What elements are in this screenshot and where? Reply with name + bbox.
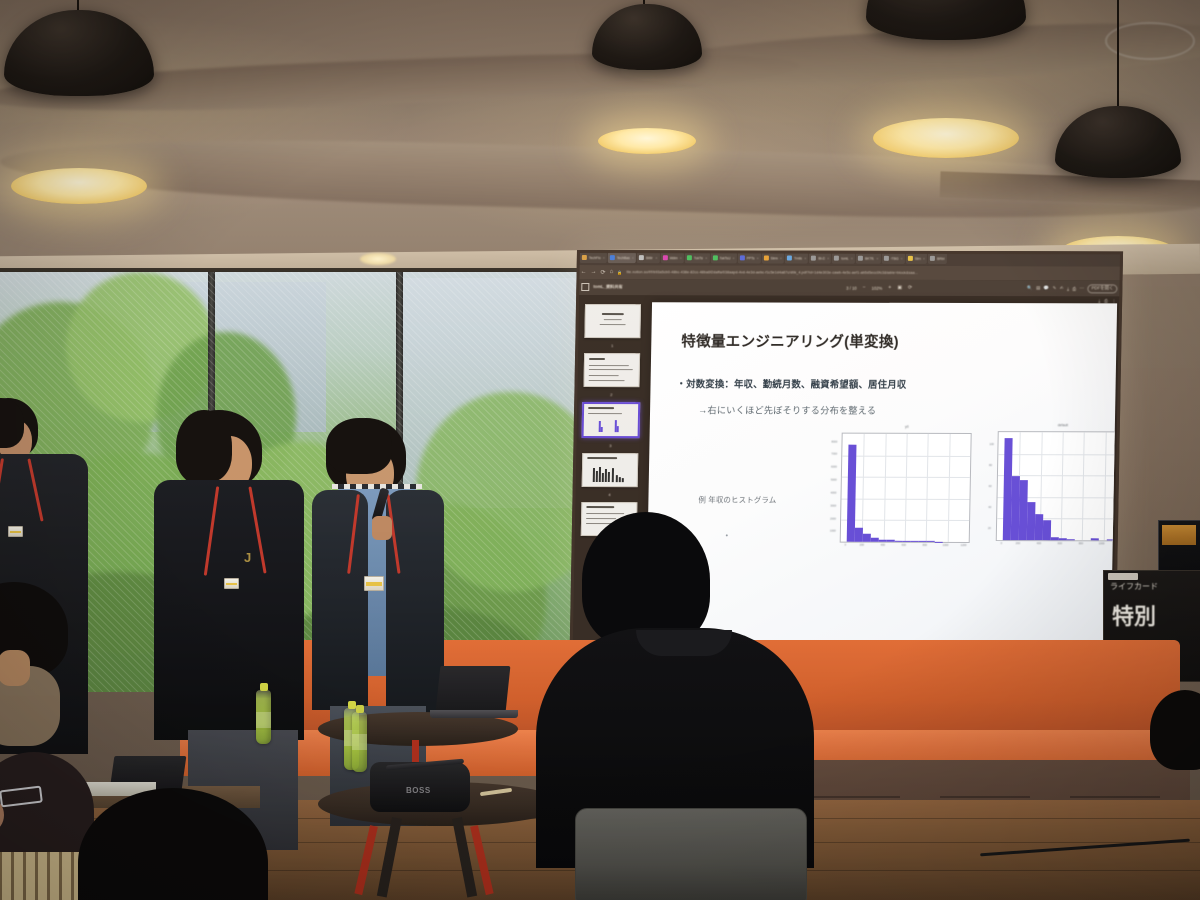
recessed-downlight: [360, 253, 396, 265]
laptop-base: [430, 710, 518, 718]
x-tick: 0: [845, 544, 847, 547]
tab-close-icon[interactable]: ×: [603, 256, 605, 260]
histogram-chart-2: default 10: [996, 431, 1117, 541]
tab-close-icon[interactable]: ×: [655, 256, 657, 260]
histogram-bar: [1107, 539, 1115, 540]
tab-label: Strn: [915, 256, 921, 260]
tab-label: TechBas: [617, 256, 630, 260]
pdf-thumbnail-4[interactable]: [582, 453, 639, 487]
browser-address-bar[interactable]: ← → ⟳ ⌂ 🔒 file.notion.so/f/f/b93a5cb0-48…: [576, 265, 1123, 280]
histogram-bar: [855, 528, 863, 542]
slide-dot-marker: [726, 534, 728, 536]
browser-tab[interactable]: Strm ×: [762, 252, 784, 263]
histogram-bar: [863, 534, 871, 542]
page-indicator: 3 / 10: [846, 285, 857, 290]
tab-close-icon[interactable]: ×: [680, 256, 682, 260]
pendant-lamp: [0, 0, 154, 96]
hand: [0, 650, 30, 686]
tab-favicon: [930, 256, 935, 261]
y-tick: 4000: [831, 492, 837, 495]
jacket: [386, 490, 444, 716]
tab-close-icon[interactable]: ×: [757, 256, 759, 260]
y-tick: 40: [988, 506, 991, 509]
tab-favicon: [639, 255, 644, 260]
bottle-label: [256, 712, 271, 728]
y-tick: 6000: [831, 466, 837, 469]
histogram-bar: [903, 541, 911, 542]
x-tick: 1200: [961, 544, 967, 547]
comment-icon[interactable]: 💬: [1044, 285, 1050, 291]
more-icon[interactable]: ⋯: [1079, 285, 1084, 291]
bottle-label: [352, 734, 367, 750]
monitor-screen-glow: [1162, 525, 1196, 545]
y-tick: 5000: [831, 479, 837, 482]
highlight-icon[interactable]: ✎: [1053, 285, 1057, 291]
histogram-2-title: default: [1058, 423, 1068, 427]
thumbnail-number: 4: [608, 492, 610, 497]
tab-close-icon[interactable]: ×: [780, 256, 782, 260]
tab-favicon: [610, 255, 615, 260]
y-tick: 7000: [831, 453, 837, 456]
histogram-chart-1: y0: [840, 433, 972, 543]
histogram-bar: [919, 541, 927, 542]
x-tick: 200: [1016, 542, 1020, 545]
thumbnail-number: 2: [610, 392, 612, 397]
histogram-bar: [887, 540, 895, 542]
y-tick: 1000: [830, 530, 836, 533]
x-tick: 1000: [943, 544, 949, 547]
tab-favicon: [712, 255, 717, 260]
pdf-slide-page: 特徴量エンジニアリング(単変換) ・対数変換：年収、勤続月数、融資希望額、居住月…: [646, 302, 1117, 651]
tab-label: Bt-D: [818, 256, 825, 260]
download-icon[interactable]: ⤓: [1067, 286, 1069, 291]
bag-logo: BOSS: [406, 786, 431, 795]
print-icon[interactable]: ⎙: [1072, 286, 1076, 291]
green-tea-bottle: [352, 712, 367, 772]
tab-label: tomL: [841, 256, 849, 260]
pdf-thumbnail-2[interactable]: [583, 353, 640, 387]
tab-favicon: [908, 256, 913, 261]
y-tick: 8000: [831, 441, 837, 444]
pdf-thumbnail-1[interactable]: [584, 304, 641, 338]
thumbnail-number: 3: [609, 443, 611, 448]
x-tick: 800: [1079, 542, 1083, 545]
jacket-logo: J: [244, 550, 251, 565]
tab-close-icon[interactable]: ×: [876, 256, 878, 260]
tab-close-icon[interactable]: ×: [705, 256, 707, 260]
banner-line-2: 特別: [1112, 599, 1156, 631]
name-badge: [364, 576, 384, 591]
browser-tab-bar[interactable]: TechFlo × TechBas × Bitlin × Mdim × TokT…: [577, 250, 1123, 266]
tab-label: TokTsU: [719, 256, 730, 260]
hair: [176, 410, 232, 482]
tab-favicon: [787, 256, 792, 261]
browser-tab[interactable]: Tmtls ×: [785, 253, 809, 264]
back-arrow-icon[interactable]: ←: [581, 269, 587, 275]
bottle-cap: [260, 683, 268, 691]
x-tick: 200: [860, 544, 864, 547]
search-icon[interactable]: 🔍: [1027, 285, 1033, 291]
x-tick: 600: [902, 544, 906, 547]
rotate-icon[interactable]: ⟳: [908, 285, 912, 291]
url-text[interactable]: file.notion.so/f/f/b93a5cb0-48bc-438e-82…: [626, 270, 1123, 275]
histogram-bar: [1067, 539, 1075, 540]
lock-icon: 🔒: [617, 270, 622, 275]
tab-favicon: [834, 256, 839, 261]
pendant-lamp: [866, 0, 1026, 40]
zoom-in-button[interactable]: +: [888, 285, 891, 291]
laptop-screen: [436, 666, 511, 712]
browser-tab[interactable]: Mdim ×: [660, 252, 684, 263]
tab-label: Bitlin: [646, 256, 653, 260]
tab-close-icon[interactable]: ×: [732, 256, 734, 260]
jacket: [312, 490, 368, 710]
tab-label: BRbI: [937, 256, 945, 260]
y-tick: 20: [988, 527, 991, 530]
tab-label: TokTsi: [694, 256, 703, 260]
tab-favicon: [582, 255, 587, 260]
tab-close-icon[interactable]: ×: [923, 256, 925, 260]
banner-line-1: ライフカード: [1110, 581, 1158, 592]
tab-label: Tmtls: [794, 256, 802, 260]
browser-tab[interactable]: TokTsi ×: [685, 252, 710, 263]
slide-title: 特徴量エンジニアリング(単変換): [681, 330, 899, 352]
histogram-bar: [911, 541, 919, 542]
zoom-out-button[interactable]: −: [863, 285, 866, 291]
browser-tab[interactable]: BRbI: [928, 253, 947, 264]
thumbnail-number: 1: [611, 343, 613, 348]
pdf-toolbar[interactable]: tomL_資料共有 3 / 10 − 102% + ▣ ⟳ 🔍 ▤ 💬 ✎ ✍ …: [576, 279, 1122, 296]
tab-favicon: [858, 256, 863, 261]
x-tick: 1000: [1099, 542, 1105, 545]
tab-favicon: [740, 255, 745, 260]
browser-tab[interactable]: Bitlin ×: [637, 252, 660, 263]
tab-favicon: [811, 256, 816, 261]
x-tick: 800: [923, 544, 927, 547]
histogram-bar: [1091, 539, 1099, 541]
open-pdf-button[interactable]: PDFを開く: [1087, 284, 1117, 293]
hand-holding-mic: [372, 516, 392, 540]
histogram-bar: [1051, 537, 1059, 540]
browser-tab-active[interactable]: TechBas ×: [608, 252, 636, 263]
histogram-bar: [895, 541, 903, 542]
tab-favicon: [687, 255, 692, 260]
histogram-bar: [879, 539, 887, 541]
tab-close-icon[interactable]: ×: [901, 256, 903, 260]
hair: [326, 418, 392, 474]
tab-close-icon[interactable]: ×: [804, 256, 806, 260]
pen-icon[interactable]: ✍: [1060, 285, 1064, 291]
pendant-lamp: [1055, 106, 1181, 178]
y-tick: 100: [989, 443, 993, 446]
name-badge: [8, 526, 23, 537]
reload-icon[interactable]: ⟳: [601, 269, 606, 276]
torso: [154, 480, 304, 740]
pdf-thumbnail-3-selected[interactable]: [582, 402, 641, 438]
jacket-collar-stripe: [332, 484, 422, 489]
browser-tab[interactable]: tomL ×: [832, 253, 855, 264]
presentation-room-photo: TechFlo × TechBas × Bitlin × Mdim × TokT…: [0, 0, 1200, 900]
tab-label: BKTfL: [865, 256, 875, 260]
tab-label: Strm: [771, 256, 778, 260]
sponsor-chip: [1108, 573, 1138, 580]
histogram-bar: [927, 541, 935, 542]
collar: [636, 630, 732, 656]
slide-bullet-2: →右にいくほど先ぼそりする分布を整える: [698, 402, 876, 416]
tab-favicon: [883, 256, 888, 261]
browser-tab[interactable]: TokTsU ×: [710, 252, 736, 263]
x-tick: 0: [1001, 542, 1003, 545]
green-tea-bottle: [256, 690, 271, 744]
zoom-level: 102%: [872, 285, 883, 290]
tab-label: rTBG: [890, 256, 898, 260]
tab-close-icon[interactable]: ×: [632, 256, 634, 260]
slide-example-label: 例 年収のヒストグラム: [698, 494, 776, 505]
y-tick: 60: [989, 485, 992, 488]
pendant-lamp: [592, 0, 702, 70]
histogram-bar: [935, 541, 943, 542]
audience-chair: [575, 808, 807, 900]
histogram-1-title: y0: [905, 425, 909, 429]
browser-tab[interactable]: Strn ×: [906, 253, 928, 264]
y-tick: 2000: [830, 518, 836, 521]
bottle-cap: [348, 701, 356, 709]
browser-tab[interactable]: BKTfL ×: [856, 253, 881, 264]
fit-page-icon[interactable]: ▣: [897, 285, 902, 291]
tab-close-icon[interactable]: ×: [827, 256, 829, 260]
tab-favicon: [662, 255, 667, 260]
x-tick: 400: [1037, 542, 1041, 545]
x-tick: 600: [1058, 542, 1062, 545]
histogram-bar: [871, 538, 879, 542]
browser-tab[interactable]: PPTs ×: [738, 252, 761, 263]
name-badge: [224, 578, 239, 589]
browser-tab[interactable]: rTBG ×: [881, 253, 904, 264]
x-tick: 400: [881, 544, 885, 547]
histogram-bar: [1059, 538, 1067, 540]
browser-tab[interactable]: Bt-D ×: [809, 253, 831, 264]
browser-tab[interactable]: TechFlo ×: [580, 252, 607, 263]
home-icon[interactable]: ⌂: [610, 269, 614, 275]
pdf-filename: tomL_資料共有: [593, 284, 622, 290]
tab-label: Mdim: [669, 256, 677, 260]
slide-bullet-1: ・対数変換：年収、勤続月数、融資希望額、居住月収: [676, 376, 906, 391]
sidebar-toggle-icon[interactable]: [581, 283, 589, 291]
bottle-cap: [356, 705, 364, 713]
tab-label: TechFlo: [589, 256, 601, 260]
tab-favicon: [764, 255, 769, 260]
y-tick: 80: [989, 464, 992, 467]
y-tick: 3000: [830, 505, 836, 508]
tab-close-icon[interactable]: ×: [851, 256, 853, 260]
forward-arrow-icon[interactable]: →: [591, 269, 597, 275]
tab-label: PPTs: [747, 256, 755, 260]
panel-icon[interactable]: ▤: [1036, 285, 1040, 291]
